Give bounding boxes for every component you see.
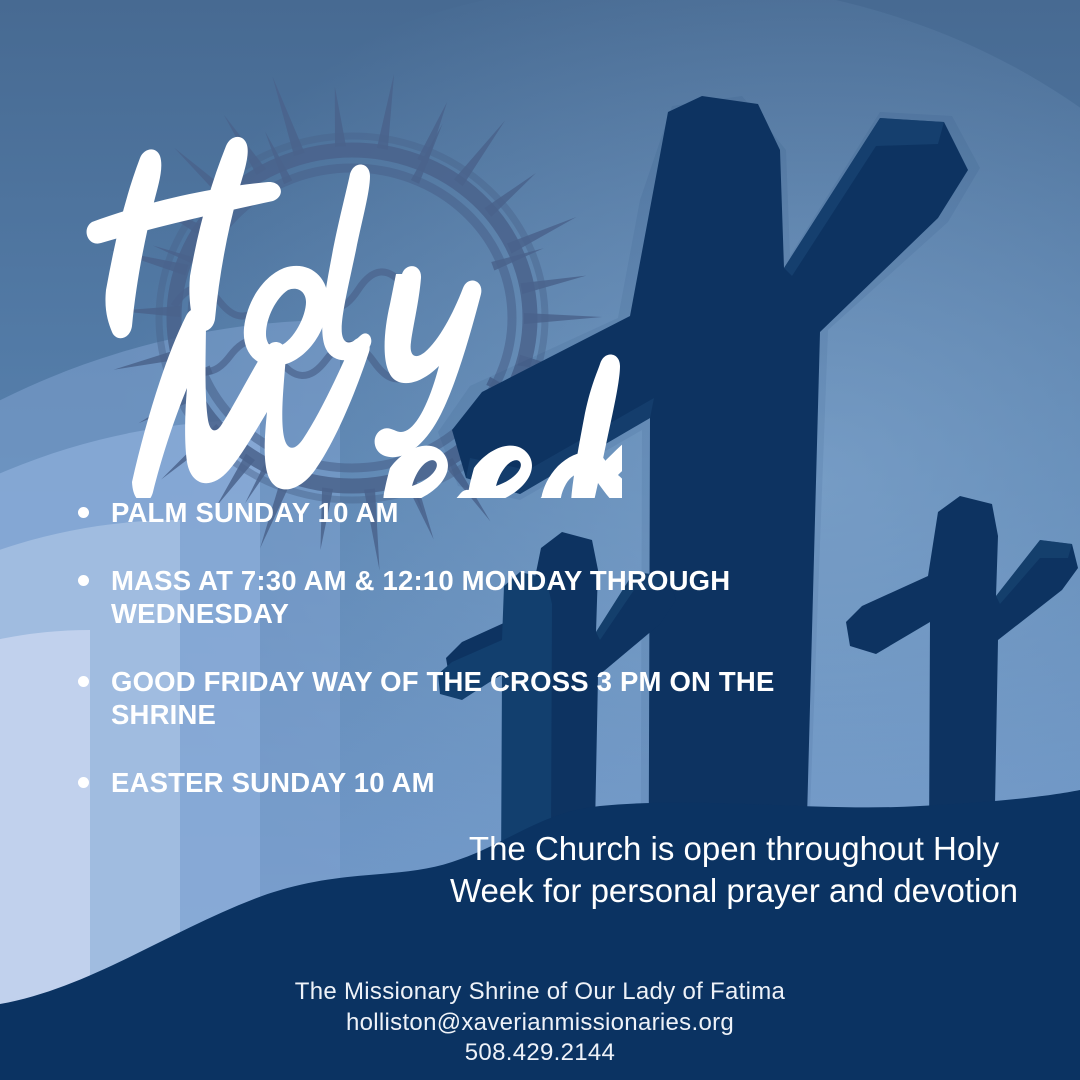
schedule-item-label: Palm Sunday 10 AM <box>111 496 399 530</box>
bullet-icon <box>78 777 89 788</box>
bullet-icon <box>78 575 89 586</box>
schedule-list: Palm Sunday 10 AM Mass at 7:30 AM & 12:1… <box>78 496 978 833</box>
footer-email: holliston@xaverianmissionaries.org <box>0 1008 1080 1038</box>
schedule-item-label: Mass at 7:30 AM & 12:10 Monday through W… <box>111 564 811 631</box>
open-note-line-1: The Church is open throughout Holy <box>444 828 1024 870</box>
list-item: Good Friday Way of the Cross 3 PM on the… <box>78 665 978 732</box>
open-note: The Church is open throughout Holy Week … <box>444 828 1024 912</box>
list-item: Mass at 7:30 AM & 12:10 Monday through W… <box>78 564 978 631</box>
open-note-line-2: Week for personal prayer and devotion <box>444 870 1024 912</box>
list-item: Easter Sunday 10 AM <box>78 766 978 800</box>
holy-week-script-title <box>62 78 622 498</box>
schedule-item-label: Good Friday Way of the Cross 3 PM on the… <box>111 665 871 732</box>
footer-contact: The Missionary Shrine of Our Lady of Fat… <box>0 977 1080 1068</box>
list-item: Palm Sunday 10 AM <box>78 496 978 530</box>
schedule-item-label: Easter Sunday 10 AM <box>111 766 435 800</box>
holy-week-poster: Palm Sunday 10 AM Mass at 7:30 AM & 12:1… <box>0 0 1080 1080</box>
footer-organization: The Missionary Shrine of Our Lady of Fat… <box>0 977 1080 1007</box>
footer-phone: 508.429.2144 <box>0 1038 1080 1068</box>
bullet-icon <box>78 676 89 687</box>
bullet-icon <box>78 507 89 518</box>
page-title <box>62 78 622 498</box>
